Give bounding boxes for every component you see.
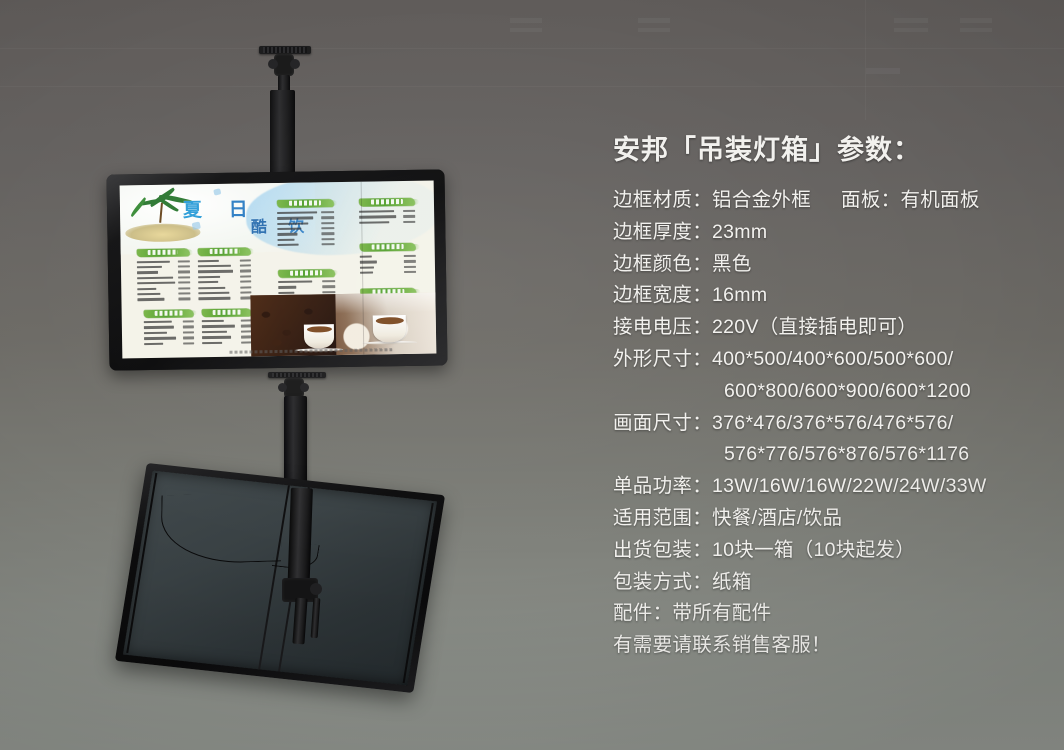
spec-label-2: 面板： bbox=[841, 189, 900, 211]
spec-value: 376*476/376*576/476*576/ bbox=[712, 412, 953, 434]
ceiling-patch bbox=[894, 18, 928, 23]
menu-section bbox=[198, 247, 252, 301]
menu-section-header bbox=[202, 308, 252, 317]
spec-line: 画面尺寸：376*476/376*576/476*576/ bbox=[613, 408, 1053, 440]
product-photo-scene: 夏 日 酷 饮 bbox=[0, 0, 1064, 750]
menu-item-rows bbox=[198, 257, 252, 301]
menu-section bbox=[136, 248, 190, 302]
mount-pivot-knob bbox=[290, 59, 300, 69]
menu-item-row bbox=[360, 269, 417, 275]
ceiling-patch bbox=[638, 28, 670, 32]
spec-label: 外形尺寸： bbox=[613, 348, 712, 370]
spec-line: 接电电压：220V（直接插电即可） bbox=[613, 312, 1053, 344]
ceiling-patch bbox=[960, 18, 992, 23]
menu-section-header bbox=[136, 248, 189, 257]
spec-label: 边框宽度： bbox=[613, 284, 712, 306]
menu-item-rows bbox=[202, 318, 253, 346]
menu-item-rows bbox=[277, 209, 334, 248]
menu-section-header bbox=[144, 309, 194, 318]
spec-lines: 边框材质：铝合金外框面板：有机面板 边框厚度：23mm 边框颜色：黑色 边框宽度… bbox=[613, 185, 1053, 662]
menu-section-header bbox=[278, 269, 335, 278]
menu-item-row bbox=[278, 242, 335, 248]
spec-panel: 安邦「吊装灯箱」参数： 边框材质：铝合金外框面板：有机面板 边框厚度：23mm … bbox=[613, 128, 1053, 662]
menu-item-rows bbox=[144, 319, 195, 347]
spec-label: 包装方式： bbox=[613, 571, 712, 593]
menu-section bbox=[359, 198, 416, 225]
spec-value: 600*800/600*900/600*1200 bbox=[724, 380, 971, 402]
mount-plate-ridges bbox=[272, 373, 322, 377]
menu-section-header bbox=[198, 247, 251, 256]
menu-item-row bbox=[359, 219, 416, 225]
spec-label: 边框颜色： bbox=[613, 253, 712, 275]
spec-label: 画面尺寸： bbox=[613, 412, 712, 434]
coffee-cup bbox=[304, 324, 334, 349]
menu-item-row bbox=[198, 295, 251, 301]
ceiling-patch bbox=[866, 68, 900, 74]
menu-item-rows bbox=[359, 208, 416, 225]
menu-section bbox=[202, 308, 253, 346]
menu-section bbox=[359, 243, 416, 275]
menu-section bbox=[144, 309, 195, 347]
spec-line: 外形尺寸：400*500/400*600/500*600/ bbox=[613, 344, 1053, 376]
spec-value: 10块一箱（10块起发） bbox=[712, 539, 915, 561]
spec-value: 400*500/400*600/500*600/ bbox=[712, 348, 953, 370]
spec-label: 出货包装： bbox=[613, 539, 712, 561]
spec-title: 安邦「吊装灯箱」参数： bbox=[613, 128, 1053, 167]
spec-value: 23mm bbox=[712, 221, 767, 243]
spec-value: 13W/16W/16W/22W/24W/33W bbox=[712, 475, 987, 497]
menu-headline-char: 酷 bbox=[251, 213, 267, 237]
mount-pole-upper-main bbox=[270, 90, 295, 176]
spec-line: 边框材质：铝合金外框面板：有机面板 bbox=[613, 185, 1053, 217]
menu-section-header bbox=[359, 243, 416, 252]
spec-value: 快餐/酒店/饮品 bbox=[712, 507, 842, 529]
rear-pivot-knob bbox=[310, 583, 322, 595]
spec-label: 边框厚度： bbox=[613, 221, 712, 243]
spec-label: 配件： bbox=[613, 602, 672, 624]
spec-line-continuation: 576*776/576*876/576*1176 bbox=[613, 439, 1053, 471]
menu-item-row bbox=[202, 340, 252, 346]
ceiling-patch bbox=[510, 28, 542, 32]
ceiling-patch bbox=[638, 18, 670, 23]
light-box-front: 夏 日 酷 饮 bbox=[106, 169, 447, 370]
menu-headline-char: 夏 bbox=[183, 196, 202, 223]
menu-item-rows bbox=[359, 253, 416, 275]
spec-value: 有需要请联系销售客服！ bbox=[613, 634, 831, 656]
light-box-rear bbox=[115, 463, 445, 693]
menu-item-rows bbox=[137, 258, 191, 302]
menu-item-row bbox=[144, 340, 194, 346]
spec-label: 适用范围： bbox=[613, 507, 712, 529]
coffee-photo bbox=[250, 293, 436, 356]
spec-line: 包装方式：纸箱 bbox=[613, 567, 1053, 599]
spec-label: 单品功率： bbox=[613, 475, 712, 497]
ceiling-patch bbox=[960, 28, 992, 32]
spec-line-cta: 有需要请联系销售客服！ bbox=[613, 630, 1053, 662]
ceiling-seam bbox=[0, 48, 1064, 49]
spec-label: 接电电压： bbox=[613, 316, 712, 338]
spec-value: 220V（直接插电即可） bbox=[712, 316, 917, 338]
spec-value-2: 有机面板 bbox=[900, 189, 979, 211]
spec-value: 16mm bbox=[712, 284, 767, 306]
mount-pivot-knob bbox=[300, 383, 309, 392]
spec-value: 带所有配件 bbox=[672, 602, 771, 624]
spec-line: 边框颜色：黑色 bbox=[613, 249, 1053, 281]
menu-item-row bbox=[137, 296, 190, 302]
spec-value: 576*776/576*876/576*1176 bbox=[724, 443, 969, 465]
menu-headline-char: 日 bbox=[228, 195, 247, 222]
spec-line: 出货包装：10块一箱（10块起发） bbox=[613, 535, 1053, 567]
spec-line: 配件：带所有配件 bbox=[613, 598, 1053, 630]
ceiling-seam bbox=[865, 0, 866, 120]
light-box-screen: 夏 日 酷 饮 bbox=[120, 181, 437, 359]
spec-value: 纸箱 bbox=[712, 571, 752, 593]
coffee-cup bbox=[373, 315, 407, 342]
spec-value: 黑色 bbox=[712, 253, 752, 275]
ceiling-mount-upper bbox=[240, 46, 350, 176]
spec-line: 边框厚度：23mm bbox=[613, 217, 1053, 249]
spec-line: 适用范围：快餐/酒店/饮品 bbox=[613, 503, 1053, 535]
mount-pivot-knob bbox=[278, 383, 287, 392]
ceiling-seam bbox=[0, 86, 1064, 87]
menu-section-header bbox=[359, 198, 416, 207]
spec-value: 铝合金外框 bbox=[712, 189, 811, 211]
menu-section bbox=[277, 199, 334, 248]
spec-line: 边框宽度：16mm bbox=[613, 280, 1053, 312]
mount-ceiling-plate bbox=[259, 46, 311, 54]
mount-pivot-knob bbox=[268, 59, 278, 69]
mount-plate-ridges bbox=[263, 47, 307, 53]
spec-label: 边框材质： bbox=[613, 189, 712, 211]
ceiling-patch bbox=[510, 18, 542, 23]
spec-line-continuation: 600*800/600*900/600*1200 bbox=[613, 376, 1053, 408]
spec-line: 单品功率：13W/16W/16W/22W/24W/33W bbox=[613, 471, 1053, 503]
menu-section-header bbox=[277, 199, 334, 208]
ceiling-patch bbox=[894, 28, 928, 32]
drink-menu-artwork: 夏 日 酷 饮 bbox=[120, 181, 437, 359]
